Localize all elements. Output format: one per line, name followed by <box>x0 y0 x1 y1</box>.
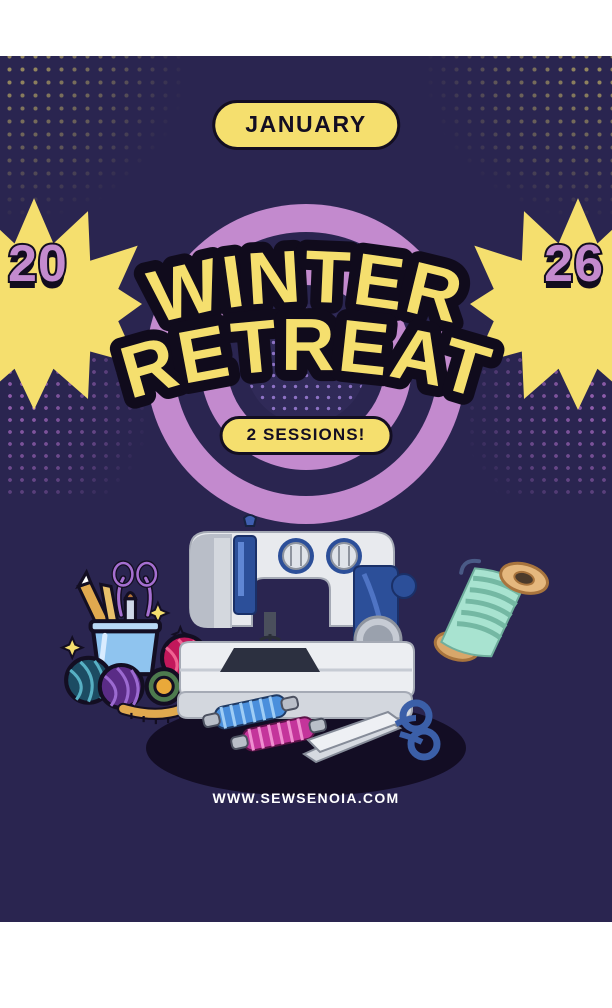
sparkle-star-1 <box>62 637 82 657</box>
machine-spool-pin <box>244 515 256 526</box>
sewing-machine-icon <box>178 515 416 718</box>
website-url: WWW.SEWSENOIA.COM <box>213 790 400 806</box>
sessions-badge: 2 SESSIONS! <box>220 416 393 455</box>
poster-canvas: 20 26 JANUARY WINTER WINTER <box>0 0 612 1008</box>
machine-dial-left <box>278 538 314 574</box>
winter-retreat-poster: 20 26 JANUARY WINTER WINTER <box>0 56 612 922</box>
thread-spool-icon <box>432 546 551 678</box>
button-icon <box>147 669 182 704</box>
machine-side-knob <box>392 574 416 598</box>
month-badge: JANUARY <box>212 100 400 150</box>
headline-arched-title: WINTER WINTER RETREAT RETREAT <box>26 184 586 444</box>
machine-needle-column <box>234 536 256 614</box>
sewing-illustration <box>0 486 612 806</box>
yarn-ball-purple <box>100 665 143 708</box>
machine-feed-plate <box>220 648 320 672</box>
